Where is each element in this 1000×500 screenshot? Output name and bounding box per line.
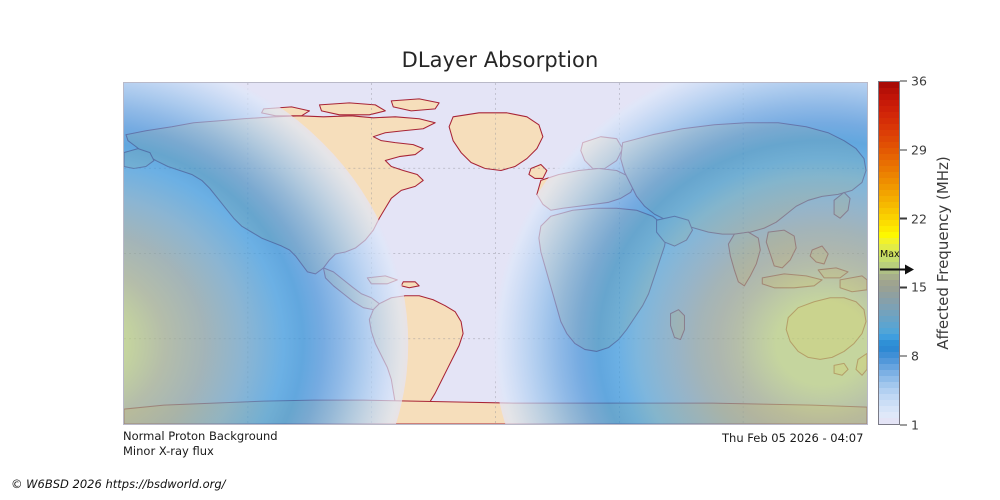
- colorbar-tick-dash: [900, 355, 907, 356]
- status-messages: Normal Proton Background Minor X-ray flu…: [123, 429, 278, 459]
- world-map-panel[interactable]: [123, 82, 868, 425]
- copyright-notice: © W6BSD 2026 https://bsdworld.org/: [11, 477, 226, 491]
- colorbar-tick: 36: [900, 74, 927, 89]
- page-title: DLayer Absorption: [0, 48, 1000, 72]
- proton-status: Normal Proton Background: [123, 429, 278, 444]
- timestamp: Thu Feb 05 2026 - 04:07: [722, 431, 863, 445]
- colorbar-tick-dash: [900, 149, 907, 150]
- colorbar-tick: 15: [900, 280, 927, 295]
- colorbar-tick-dash: [900, 218, 907, 219]
- colorbar-tick-dash: [900, 80, 907, 81]
- xray-status: Minor X-ray flux: [123, 444, 278, 459]
- colorbar-band: [879, 418, 899, 424]
- colorbar-tick: 22: [900, 211, 927, 226]
- dlayer-absorption-figure: DLayer Absorption: [0, 0, 1000, 500]
- colorbar-tick-label: 36: [911, 74, 927, 89]
- colorbar-tick-label: 29: [911, 142, 927, 157]
- absorption-wrap-lobe: [124, 83, 408, 424]
- absorption-overlay: [124, 83, 867, 424]
- colorbar-tick-label: 8: [911, 349, 919, 364]
- colorbar-tick-dash: [900, 424, 907, 425]
- colorbar-tick: 1: [900, 418, 919, 433]
- colorbar[interactable]: 3629221581: [878, 81, 900, 425]
- colorbar-tick-label: 1: [911, 418, 919, 433]
- colorbar-tick: 8: [900, 349, 919, 364]
- colorbar-tick-dash: [900, 287, 907, 288]
- absorption-main-lobe: [493, 83, 867, 424]
- colorbar-axis-label-text: Affected Frequency (MHz): [934, 156, 952, 350]
- colorbar-axis-label: Affected Frequency (MHz): [930, 81, 956, 425]
- colorbar-tick-label: 15: [911, 280, 927, 295]
- map-inner: [124, 83, 867, 424]
- colorbar-tick-label: 22: [911, 211, 927, 226]
- colorbar-tick: 29: [900, 142, 927, 157]
- colorbar-gradient: [878, 81, 900, 425]
